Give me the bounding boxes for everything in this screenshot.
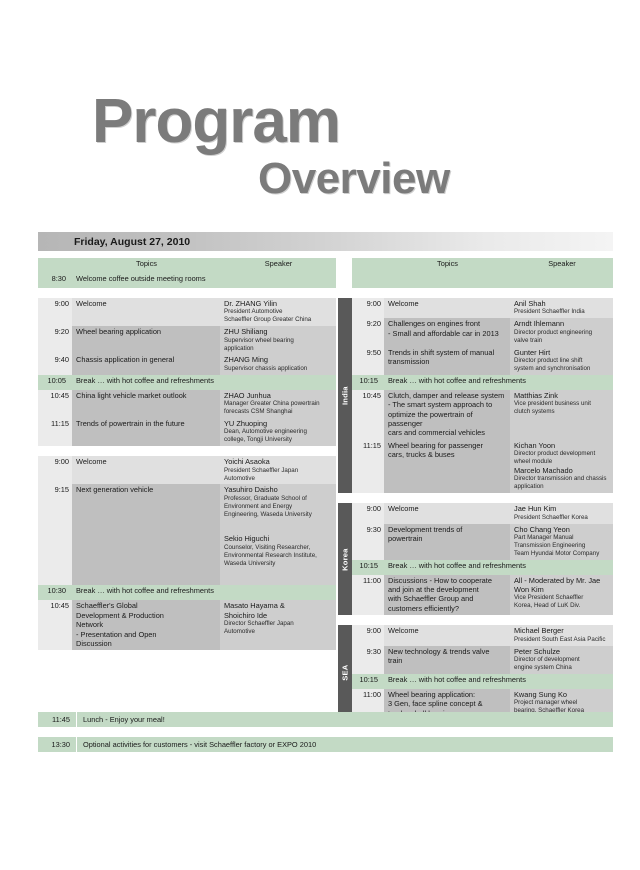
table-row: 9:20 Challenges on engines front - Small…	[338, 318, 613, 346]
row-time: 10:45	[38, 390, 72, 418]
break-text: Break … with hot coffee and refreshments	[384, 674, 613, 689]
break-row: 10:15 Break … with hot coffee and refres…	[338, 674, 613, 689]
header-blank	[38, 258, 72, 273]
row-speaker: Yasuhiro Daisho Professor, Graduate Scho…	[220, 484, 336, 585]
row-speaker: All - Moderated by Mr. Jae Won Kim Vice …	[510, 575, 613, 616]
row-topic: Trends in shift system of manual transmi…	[384, 347, 510, 375]
row-speaker: Cho Chang Yeon Part Manager Manual Trans…	[510, 524, 613, 560]
page-subtitle: Overview	[258, 154, 450, 204]
row-topic: Trends of powertrain in the future	[72, 418, 220, 446]
table-header-row: Topics Speaker	[338, 258, 613, 273]
row-speaker: Anil Shah President Schaeffler India	[510, 298, 613, 318]
row-speaker: Michael Berger President South East Asia…	[510, 625, 613, 645]
filler-tab-gap	[338, 273, 352, 288]
row-time: 10:45	[352, 390, 384, 440]
break-row: 10:15 Break … with hot coffee and refres…	[338, 375, 613, 390]
row-speaker: ZHU Shiliang Supervisor wheel bearing ap…	[220, 326, 336, 354]
row-topic: Next generation vehicle	[72, 484, 220, 585]
footer-rows: 11:45 Lunch - Enjoy your meal! 13:30 Opt…	[38, 712, 613, 762]
lunch-text: Lunch - Enjoy your meal!	[77, 715, 165, 724]
table-row: 10:45 China light vehicle market outlook…	[38, 390, 336, 418]
role-gap	[224, 526, 333, 534]
row-topic: Clutch, damper and release system - The …	[384, 390, 510, 440]
table-row: 9:15 Next generation vehicle Yasuhiro Da…	[38, 484, 336, 585]
row-time: 11:00	[352, 575, 384, 616]
break-time: 10:15	[352, 674, 384, 689]
header-topics: Topics	[384, 258, 510, 273]
row-speaker: Masato Hayama & Shoichiro Ide Director S…	[220, 600, 336, 650]
role-gap	[224, 567, 333, 575]
program-overview-page: Program Overview Friday, August 27, 2010…	[0, 0, 640, 870]
table-row: India 9:00 Welcome Anil Shah President S…	[338, 298, 613, 318]
table-row: 9:30 Development trends of powertrain Ch…	[338, 524, 613, 560]
spacer	[38, 446, 336, 456]
row-time: 9:40	[38, 354, 72, 374]
title-block: Program Overview	[0, 88, 640, 228]
row-time: 10:45	[38, 600, 72, 650]
optional-time: 13:30	[38, 740, 76, 749]
left-schedule-column: Topics Speaker 8:30 Welcome coffee outsi…	[38, 258, 336, 650]
row-time: 9:00	[352, 503, 384, 523]
break-row: 10:05 Break … with hot coffee and refres…	[38, 375, 336, 390]
table-row: 11:15 Wheel bearing for passenger cars, …	[338, 440, 613, 493]
row-topic: Welcome	[384, 298, 510, 318]
row-speaker: YU Zhuoping Dean, Automotive engineering…	[220, 418, 336, 446]
table-row: Korea 9:00 Welcome Jae Hun Kim President…	[338, 503, 613, 523]
row-speaker: ZHANG Ming Supervisor chassis applicatio…	[220, 354, 336, 374]
row-topic: Chassis application in general	[72, 354, 220, 374]
row-time: 9:50	[352, 347, 384, 375]
row-topic: Wheel bearing for passenger cars, trucks…	[384, 440, 510, 493]
break-text: Break … with hot coffee and refreshments	[384, 375, 613, 390]
break-text: Break … with hot coffee and refreshments	[72, 585, 336, 600]
role-gap	[224, 519, 333, 527]
spacer	[338, 615, 613, 625]
region-tab-sea: SEA	[338, 625, 352, 720]
row-topic: China light vehicle market outlook	[72, 390, 220, 418]
date-bar: Friday, August 27, 2010	[38, 232, 613, 251]
break-time: 10:15	[352, 560, 384, 575]
right-schedule-table: Topics Speaker India 9:00	[338, 258, 613, 720]
row-topic: Development trends of powertrain	[384, 524, 510, 560]
region-tab-india: India	[338, 298, 352, 493]
row-speaker: Arndt Ihlemann Director product engineer…	[510, 318, 613, 346]
break-text: Break … with hot coffee and refreshments	[384, 560, 613, 575]
row-time: 9:30	[352, 524, 384, 560]
row-speaker: Peter Schulze Director of development en…	[510, 646, 613, 674]
row-time: 9:20	[352, 318, 384, 346]
row-time: 9:30	[352, 646, 384, 674]
table-row: 9:20 Wheel bearing application ZHU Shili…	[38, 326, 336, 354]
break-row: 10:15 Break … with hot coffee and refres…	[338, 560, 613, 575]
header-speaker: Speaker	[510, 258, 613, 273]
row-time: 9:20	[38, 326, 72, 354]
row-time: 11:15	[352, 440, 384, 493]
table-row: 9:50 Trends in shift system of manual tr…	[338, 347, 613, 375]
date-label: Friday, August 27, 2010	[38, 236, 190, 248]
spacer	[338, 288, 613, 298]
page-title: Program	[92, 88, 340, 156]
row-time: 11:15	[38, 418, 72, 446]
table-header-row: Topics Speaker	[38, 258, 336, 273]
spacer	[38, 288, 336, 298]
row-speaker: Dr. ZHANG Yilin President Automotive Sch…	[220, 298, 336, 326]
lunch-row: 11:45 Lunch - Enjoy your meal!	[38, 712, 613, 727]
row-topic: Wheel bearing application	[72, 326, 220, 354]
row-time: 9:00	[38, 298, 72, 326]
row-topic: New technology & trends valve train	[384, 646, 510, 674]
table-row: 9:00 Welcome Yoichi Asaoka President Sch…	[38, 456, 336, 484]
left-schedule-table: Topics Speaker 8:30 Welcome coffee outsi…	[38, 258, 336, 650]
spacer	[338, 493, 613, 503]
table-row: 9:40 Chassis application in general ZHAN…	[38, 354, 336, 374]
row-topic: Welcome	[384, 503, 510, 523]
table-row: 9:00 Welcome Dr. ZHANG Yilin President A…	[38, 298, 336, 326]
row-time: 9:15	[38, 484, 72, 585]
opening-time: 8:30	[38, 273, 72, 288]
break-text: Break … with hot coffee and refreshments	[72, 375, 336, 390]
right-schedule-column: Topics Speaker India 9:00	[338, 258, 613, 720]
row-speaker: Matthias Zink Vice president business un…	[510, 390, 613, 440]
row-time: 9:00	[38, 456, 72, 484]
break-row: 10:30 Break … with hot coffee and refres…	[38, 585, 336, 600]
row-topic: Welcome	[384, 625, 510, 645]
header-tab-gap	[338, 258, 352, 273]
filler-cell	[352, 273, 613, 288]
row-topic: Schaeffler's Global Development & Produc…	[72, 600, 220, 650]
opening-text: Welcome coffee outside meeting rooms	[72, 273, 336, 288]
row-speaker: Kichan Yoon Director product development…	[510, 440, 613, 493]
row-time: 9:00	[352, 625, 384, 645]
table-row: 10:45 Schaeffler's Global Development & …	[38, 600, 336, 650]
opening-row: 8:30 Welcome coffee outside meeting room…	[38, 273, 336, 288]
row-topic: Welcome	[72, 456, 220, 484]
table-row: 10:45 Clutch, damper and release system …	[338, 390, 613, 440]
table-row: 9:30 New technology & trends valve train…	[338, 646, 613, 674]
lunch-time: 11:45	[38, 715, 76, 724]
break-time: 10:15	[352, 375, 384, 390]
row-speaker: Yoichi Asaoka President Schaeffler Japan…	[220, 456, 336, 484]
row-topic: Welcome	[72, 298, 220, 326]
break-time: 10:05	[38, 375, 72, 390]
table-row: 11:00 Discussions - How to cooperate and…	[338, 575, 613, 616]
header-topics: Topics	[72, 258, 220, 273]
row-speaker: Gunter Hirt Director product line shift …	[510, 347, 613, 375]
row-topic: Discussions - How to cooperate and join …	[384, 575, 510, 616]
row-speaker: Jae Hun Kim President Schaeffler Korea	[510, 503, 613, 523]
region-tab-korea: Korea	[338, 503, 352, 615]
optional-text: Optional activities for customers - visi…	[77, 740, 316, 749]
table-row: 11:15 Trends of powertrain in the future…	[38, 418, 336, 446]
role-gap	[224, 575, 333, 583]
table-row: SEA 9:00 Welcome Michael Berger Presiden…	[338, 625, 613, 645]
header-filler-row	[338, 273, 613, 288]
break-time: 10:30	[38, 585, 72, 600]
row-time: 9:00	[352, 298, 384, 318]
row-speaker: ZHAO Junhua Manager Greater China powert…	[220, 390, 336, 418]
header-blank	[352, 258, 384, 273]
row-topic: Challenges on engines front - Small and …	[384, 318, 510, 346]
header-speaker: Speaker	[220, 258, 336, 273]
optional-activities-row: 13:30 Optional activities for customers …	[38, 737, 613, 752]
